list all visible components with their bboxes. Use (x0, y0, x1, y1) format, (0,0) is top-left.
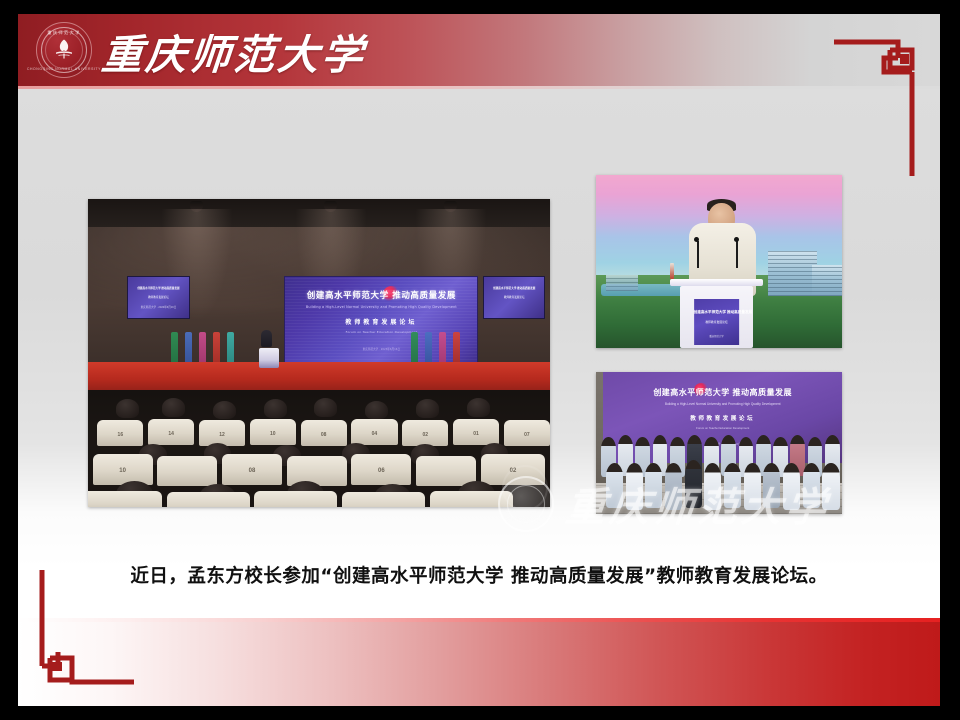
audience-head (213, 401, 236, 420)
main-led-screen: 创建高水平师范大学 推动高质量发展 Building a High-Level … (284, 276, 478, 370)
photo-conference-hall[interactable]: 创建高水平师范大学 推动高质量发展 教师教育发展论坛 重庆师范大学 · 2023… (88, 199, 550, 507)
audience-head (116, 399, 139, 418)
seat: 04 (351, 419, 397, 445)
led-title: 创建高水平师范大学 推动高质量发展 (285, 289, 477, 301)
seal-bottom-text: CHONGQING NORMAL UNIVERSITY (27, 67, 101, 71)
caption-text: 近日，孟东方校长参加“创建高水平师范大学 推动高质量发展”教师教育发展论坛。 (130, 566, 827, 587)
seat (88, 491, 162, 507)
seat-number: 16 (97, 432, 143, 438)
seat-number: 10 (250, 431, 296, 437)
seat (430, 491, 513, 507)
backdrop-building (768, 251, 817, 296)
backdrop-forum-name-en: Forum on Teacher Education Development (603, 426, 842, 430)
seat-number: 12 (199, 432, 245, 438)
seat: 07 (504, 420, 550, 446)
group-person (803, 463, 820, 508)
podium: 创建高水平师范大学 推动高质量发展 教师教育发展论坛 重庆师范大学 (680, 286, 754, 348)
led-forum-name: 教师教育发展论坛 (285, 317, 477, 326)
seat: 01 (453, 419, 499, 445)
seat (287, 456, 347, 486)
university-wordmark: 重庆师范大学 (102, 25, 366, 77)
seat-number: 08 (222, 468, 282, 474)
seat-number: 02 (402, 432, 448, 438)
seat-number: 08 (301, 432, 347, 438)
group-person (665, 463, 682, 510)
seat-number: 04 (351, 431, 397, 437)
led-forum-name-en: Forum on Teacher Education Development (285, 330, 477, 334)
seat: 08 (222, 454, 282, 484)
photo-group-forum[interactable]: 创建高水平师范大学 推动高质量发展 Building a High-Level … (596, 372, 842, 514)
seat-number: 07 (504, 432, 550, 438)
seat-number: 14 (148, 431, 194, 437)
audience-head (467, 398, 490, 417)
side-led-screen-right: 创建高水平师范大学 推动高质量发展 教师教育发展论坛 (483, 276, 545, 319)
group-person (606, 463, 623, 508)
backdrop-building (812, 265, 842, 296)
speaker-on-stage (261, 330, 272, 347)
seat-number: 06 (351, 468, 411, 474)
side-led-title: 创建高水平师范大学 推动高质量发展 (128, 286, 188, 290)
group-person (744, 463, 761, 510)
header-underline (18, 86, 940, 89)
plum-blossom-decoration-icon (381, 284, 401, 302)
seat (342, 492, 425, 507)
seat (416, 456, 476, 486)
side-led-forum: 教师教育发展论坛 (128, 295, 188, 299)
podium-title: 创建高水平师范大学 推动高质量发展 (694, 310, 740, 315)
seat: 10 (93, 454, 153, 484)
podium-footer: 重庆师范大学 (694, 334, 740, 338)
group-person (724, 463, 741, 508)
seal-emblem-icon (51, 38, 77, 62)
seat (254, 491, 337, 507)
audience-head (416, 399, 439, 418)
led-footer: 重庆师范大学 · 2023年6月16日 (285, 347, 477, 351)
seat: 10 (250, 419, 296, 445)
side-led-forum: 教师教育发展论坛 (484, 295, 544, 299)
microphone-stand (736, 241, 738, 269)
seat-number: 10 (93, 468, 153, 474)
audience-head (314, 398, 337, 417)
group-person (626, 463, 643, 510)
seat: 12 (199, 420, 245, 446)
audience-head (162, 398, 185, 417)
group-person (822, 463, 839, 510)
photo-president-speaking[interactable]: 创建高水平师范大学 推动高质量发展 教师教育发展论坛 重庆师范大学 (596, 175, 842, 348)
group-person-president (685, 460, 702, 508)
group-person (783, 463, 800, 510)
corner-ornament-top-right-icon (832, 36, 924, 178)
seat (167, 492, 250, 507)
photo-watermark-seal-icon (502, 465, 548, 507)
group-person (763, 463, 780, 508)
audience-area: 16 14 12 10 08 04 02 01 07 10 08 06 02 (88, 390, 550, 507)
group-person (645, 463, 662, 508)
microphone-stand (697, 241, 699, 269)
water-bottle (670, 263, 674, 279)
stage-podium (259, 348, 279, 368)
university-seal-icon: 重庆师范大学 CHONGQING NORMAL UNIVERSITY (36, 22, 92, 78)
side-led-title: 创建高水平师范大学 推动高质量发展 (484, 286, 544, 290)
backdrop-forum-name: 教师教育发展论坛 (603, 414, 842, 422)
slide-caption: 近日，孟东方校长参加“创建高水平师范大学 推动高质量发展”教师教育发展论坛。 (18, 562, 940, 588)
backdrop-building (606, 275, 638, 291)
seat: 14 (148, 419, 194, 445)
stage-red-carpet (88, 362, 550, 393)
seat: 02 (402, 420, 448, 446)
slide-frame: 重庆师范大学 CHONGQING NORMAL UNIVERSITY 重庆师范大… (18, 14, 940, 706)
podium-branding-panel: 创建高水平师范大学 推动高质量发展 教师教育发展论坛 重庆师范大学 (694, 299, 740, 345)
backdrop-title: 创建高水平师范大学 推动高质量发展 (603, 387, 842, 398)
university-name-text: 重庆师范大学 (99, 21, 368, 81)
podium-top-surface (670, 279, 763, 286)
audience-head (365, 401, 388, 420)
podium-subtitle: 教师教育发展论坛 (694, 320, 740, 324)
seal-top-text: 重庆师范大学 (47, 30, 81, 36)
led-subtitle-en: Building a High-Level Normal University … (285, 305, 477, 309)
side-led-screen-left: 创建高水平师范大学 推动高质量发展 教师教育发展论坛 重庆师范大学 · 2023… (127, 276, 189, 319)
group-person (704, 463, 721, 510)
backdrop-subtitle-en: Building a High-Level Normal University … (603, 402, 842, 406)
seat: 08 (301, 420, 347, 446)
seat-number: 01 (453, 431, 499, 437)
side-led-footer: 重庆师范大学 · 2023年6月16日 (128, 305, 188, 309)
seat (157, 456, 217, 486)
seat: 16 (97, 420, 143, 446)
audience-head (264, 399, 287, 418)
seat: 06 (351, 454, 411, 484)
